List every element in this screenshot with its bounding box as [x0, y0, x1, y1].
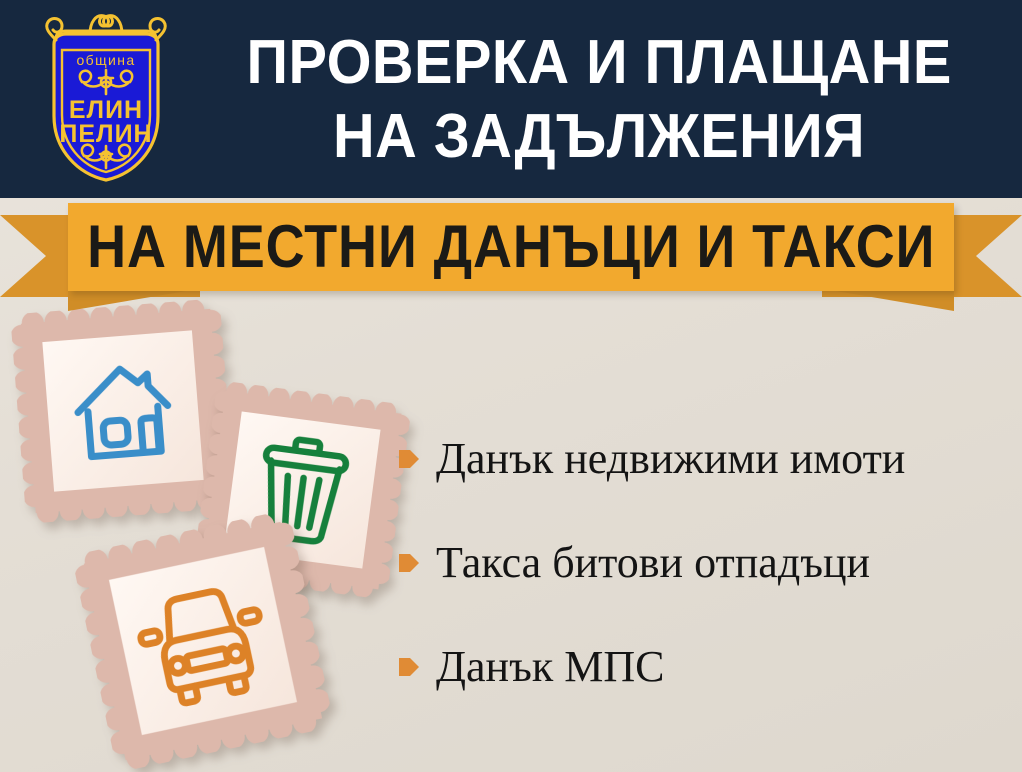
ribbon-fold-left [68, 289, 198, 311]
list-item[interactable]: Данък МПС [398, 632, 1008, 702]
ribbon-fold-right [824, 289, 954, 311]
municipality-logo: община ЕЛИН ПЕЛИН [26, 8, 186, 190]
arrow-bullet-icon [398, 447, 420, 471]
arrow-bullet-icon [398, 655, 420, 679]
title-line-2: НА ЗАДЪЛЖЕНИЯ [333, 100, 865, 174]
list-item-label: Данък МПС [436, 642, 664, 692]
stamp-car [71, 509, 334, 772]
list-item[interactable]: Такса битови отпадъци [398, 528, 1008, 598]
tax-list: Данък недвижими имоти Такса битови отпад… [398, 424, 1008, 702]
subtitle-ribbon: НА МЕСТНИ ДАНЪЦИ И ТАКСИ [0, 196, 1022, 314]
ribbon-label: НА МЕСТНИ ДАНЪЦИ И ТАКСИ [87, 217, 935, 277]
logo-name-line2: ПЕЛИН [59, 120, 152, 148]
list-item[interactable]: Данък недвижими имоти [398, 424, 1008, 494]
list-item-label: Такса битови отпадъци [436, 538, 870, 588]
logo-municipality-label: община [76, 52, 135, 68]
title-line-1: ПРОВЕРКА И ПЛАЩАНЕ [246, 26, 951, 100]
poster-title: ПРОВЕРКА И ПЛАЩАНЕ НА ЗАДЪЛЖЕНИЯ [186, 18, 1012, 182]
ribbon-main-panel: НА МЕСТНИ ДАНЪЦИ И ТАКСИ [68, 203, 954, 291]
arrow-bullet-icon [398, 551, 420, 575]
list-item-label: Данък недвижими имоти [436, 434, 905, 484]
poster-canvas: община ЕЛИН ПЕЛИН ПРОВЕРКА И ПЛАЩАНЕ НА … [0, 0, 1022, 772]
